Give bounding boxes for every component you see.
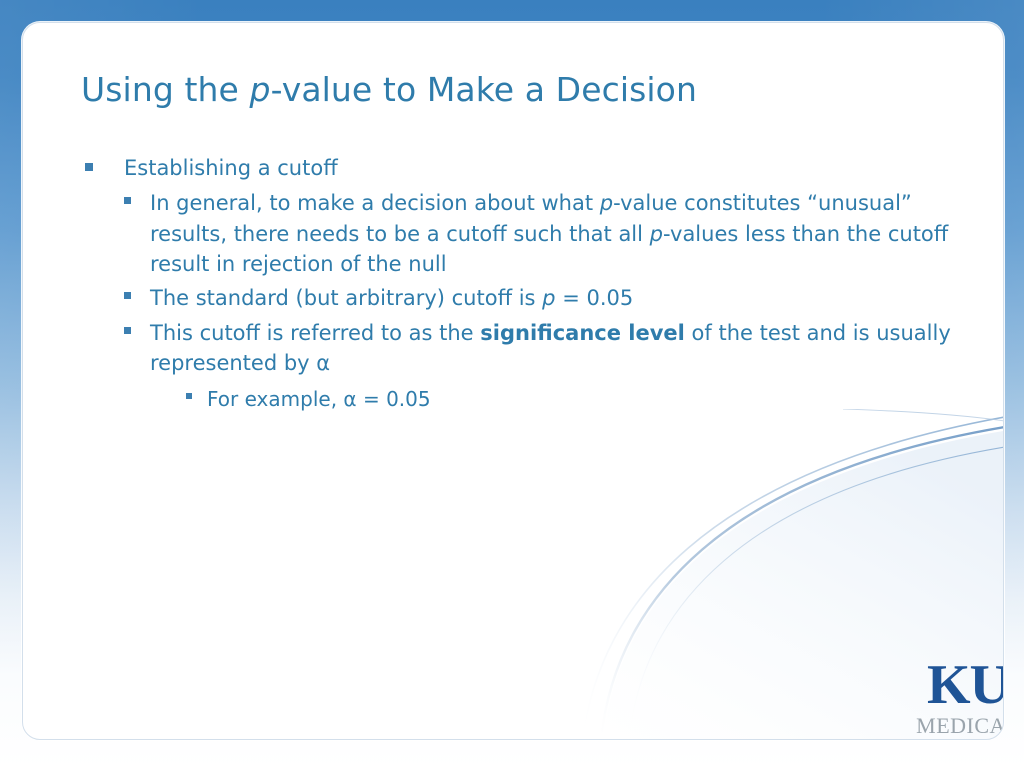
bullet-level1-text: Establishing a cutoff — [124, 154, 979, 182]
logo-ku-mark: KU — [907, 659, 1004, 712]
bullet-level3-text: For example, α = 0.05 — [207, 385, 979, 413]
bullet-level3: For example, α = 0.05 — [79, 385, 979, 413]
bullet-level2: In general, to make a decision about wha… — [79, 188, 969, 279]
ku-medical-center-logo: KU MEDICAL CENTER The University of Kans… — [907, 659, 1004, 740]
slide-title: Using the p-value to Make a Decision — [81, 71, 961, 110]
slide-content-panel: Using the p-value to Make a Decision Est… — [22, 22, 1004, 740]
square-bullet-icon — [186, 393, 192, 399]
bullet-level2: This cutoff is referred to as the signif… — [79, 318, 969, 379]
slide-title-italic-p: p — [250, 70, 271, 109]
bullet-level2: The standard (but arbitrary) cutoff is p… — [79, 283, 969, 313]
square-bullet-icon — [124, 327, 131, 334]
slide: Using the p-value to Make a Decision Est… — [0, 0, 1024, 768]
bullet-level1: Establishing a cutoff — [79, 154, 979, 182]
square-bullet-icon — [124, 197, 131, 204]
logo-medical-word: MEDICAL — [907, 715, 1004, 737]
slide-title-prefix: Using the — [81, 70, 250, 109]
slide-body: Establishing a cutoff In general, to mak… — [79, 154, 979, 417]
bullet-level2-text: In general, to make a decision about wha… — [150, 188, 969, 279]
square-bullet-icon — [124, 292, 131, 299]
bullet-level2-text: The standard (but arbitrary) cutoff is p… — [150, 283, 969, 313]
bullet-level2-text: This cutoff is referred to as the signif… — [150, 318, 969, 379]
square-bullet-icon — [85, 163, 93, 171]
slide-title-suffix: -value to Make a Decision — [271, 70, 697, 109]
